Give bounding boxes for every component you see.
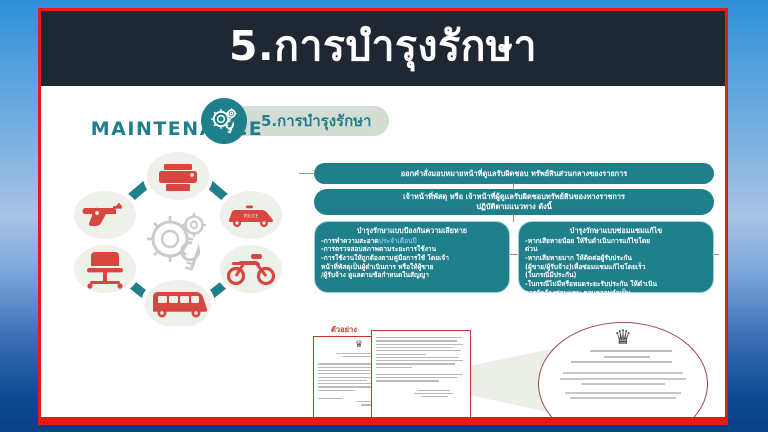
connector-vertical-1 bbox=[513, 183, 514, 190]
wheel-node-van bbox=[143, 278, 213, 326]
prevent-line-1: -การตรวจสอบสภาพตามระยะการใช้งาน bbox=[321, 245, 503, 254]
wheel-node-office-chair bbox=[72, 243, 138, 295]
example-document-2 bbox=[371, 330, 471, 422]
slide-frame: 5.การบำรุงรักษา bbox=[38, 8, 728, 425]
repair-line-1: ด่วน bbox=[525, 245, 707, 254]
repair-line-3: (ผู้ขาย/ผู้รับจ้าง)เพื่อซ่อมแซมแก้ไขโดยเ… bbox=[525, 263, 707, 272]
prevent-maintenance-box: บำรุงรักษาแบบป้องกันความเสียหาย -การทำคว… bbox=[314, 221, 510, 293]
prevent-line-4: /ผู้รับจ้าง ดูแลตามข้อกำหนดในสัญญา bbox=[321, 271, 503, 280]
slide-content: 5.การบำรุงรักษา MAINTENANCE bbox=[41, 86, 725, 422]
maintenance-wheel: MAINTENANCE bbox=[51, 114, 303, 332]
connector-left bbox=[299, 173, 315, 174]
flow-step-2-line1: เจ้าหน้าที่พัสดุ หรือ เจ้าหน้าที่ผู้ดูแล… bbox=[403, 192, 625, 202]
repair-maintenance-box: บำรุงรักษาแบบซ่อมแซมแก้ไข -หากเสียหายน้อ… bbox=[518, 221, 714, 293]
repair-line-0: -หากเสียหายน้อย ให้รีบดำเนินการแก้ไขโดย bbox=[525, 237, 707, 246]
connector-vertical-2 bbox=[513, 214, 514, 222]
prevent-line-0: -การทำความสะอาดประจำเดือนปี bbox=[321, 237, 503, 246]
wheel-node-police-car: POLICE bbox=[218, 189, 284, 241]
garuda-emblem-icon: ♛ bbox=[539, 327, 707, 347]
flow-step-2: เจ้าหน้าที่พัสดุ หรือ เจ้าหน้าที่ผู้ดูแล… bbox=[314, 189, 714, 215]
flow-step-1-label: ออกคำสั่งมอบหมายหน้าที่ดูแลรับผิดชอบ ทรั… bbox=[401, 169, 628, 179]
bottom-accent-strip bbox=[41, 417, 725, 422]
repair-line-6: การจัดจ้างซ่อมแซม ตามความจำเป็น bbox=[525, 289, 707, 298]
flow-step-2-line2: ปฏิบัติตามแนวทาง ดังนี้ bbox=[403, 202, 625, 212]
example-label: ตัวอย่าง bbox=[331, 324, 357, 336]
wheel-node-pistol bbox=[72, 189, 138, 241]
flow-step-1: ออกคำสั่งมอบหมายหน้าที่ดูแลรับผิดชอบ ทรั… bbox=[314, 163, 714, 184]
repair-line-2: -หากเสียหายมาก ให้ติดต่อผู้รับประกัน bbox=[525, 254, 707, 263]
wheel-node-motorcycle bbox=[218, 243, 284, 295]
document-text-lines bbox=[376, 337, 466, 397]
maintenance-title: MAINTENANCE bbox=[51, 118, 303, 140]
magnified-document: ♛ bbox=[538, 322, 708, 425]
prevent-line-2: -การใช้งานให้ถูกต้องตามคู่มือการใช้ โดยเ… bbox=[321, 254, 503, 263]
repair-line-5: -ในกรณีไม่มีหรือหมดระยะรับประกัน ให้ดำเน… bbox=[525, 280, 707, 289]
wheel-node-printer bbox=[145, 150, 211, 202]
prevent-box-title: บำรุงรักษาแบบป้องกันความเสียหาย bbox=[321, 226, 503, 236]
gear-wrench-icon bbox=[201, 98, 247, 144]
prevent-line-3: หน้าที่พัสดุเป็นผู้ดำเนินการ หรือให้ผู้ข… bbox=[321, 263, 503, 272]
page-title: 5.การบำรุงรักษา bbox=[229, 26, 537, 67]
repair-box-title: บำรุงรักษาแบบซ่อมแซมแก้ไข bbox=[525, 226, 707, 236]
svg-text:POLICE: POLICE bbox=[244, 214, 259, 219]
repair-line-4: (ในกรณีมีประกัน) bbox=[525, 271, 707, 280]
magnified-document-lines bbox=[539, 350, 707, 399]
prevent-highlight: ประจำเดือนปี bbox=[379, 237, 417, 245]
slide-title-bar: 5.การบำรุงรักษา bbox=[41, 11, 725, 86]
